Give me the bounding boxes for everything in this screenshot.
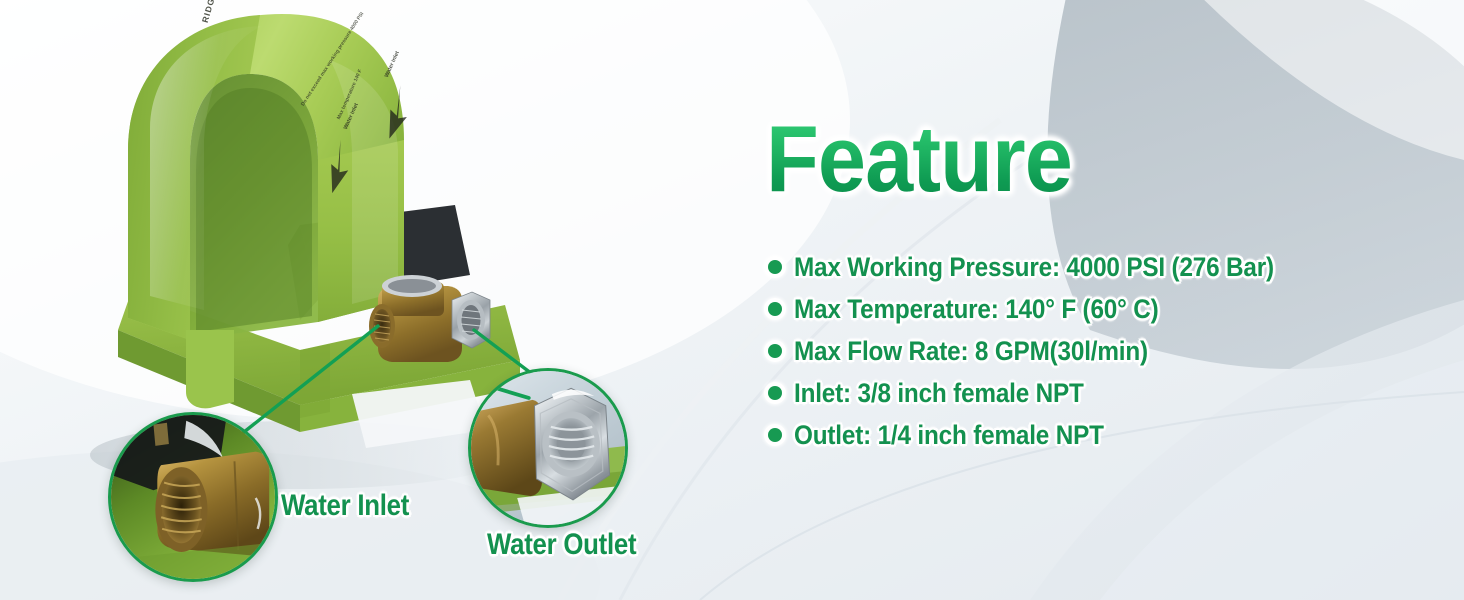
- callout-circle-water-outlet: [468, 368, 628, 528]
- callout-label-water-outlet: Water Outlet: [487, 528, 636, 562]
- bullet-icon: [768, 302, 782, 316]
- bullet-icon: [768, 260, 782, 274]
- feature-text: Max Temperature: 140° F (60° C): [794, 294, 1159, 325]
- feature-item: Inlet: 3/8 inch female NPT: [768, 372, 1464, 414]
- feature-item: Max Temperature: 140° F (60° C): [768, 288, 1464, 330]
- feature-list: Max Working Pressure: 4000 PSI (276 Bar)…: [768, 246, 1464, 456]
- feature-item: Max Flow Rate: 8 GPM(30l/min): [768, 330, 1464, 372]
- feature-panel: Feature Max Working Pressure: 4000 PSI (…: [762, 0, 1464, 600]
- water-inlet-closeup: [111, 415, 275, 579]
- callout-circle-water-inlet: [108, 412, 278, 582]
- feature-banner: RIDGE WASHER RW Do not exceed max workin…: [0, 0, 1464, 600]
- feature-item: Max Working Pressure: 4000 PSI (276 Bar): [768, 246, 1464, 288]
- feature-text: Max Working Pressure: 4000 PSI (276 Bar): [794, 252, 1274, 283]
- bullet-icon: [768, 344, 782, 358]
- bullet-icon: [768, 386, 782, 400]
- feature-title: Feature: [766, 112, 1072, 206]
- bullet-icon: [768, 428, 782, 442]
- feature-text: Outlet: 1/4 inch female NPT: [794, 420, 1104, 451]
- callout-label-water-inlet: Water Inlet: [281, 489, 409, 523]
- feature-text: Max Flow Rate: 8 GPM(30l/min): [794, 336, 1148, 367]
- feature-item: Outlet: 1/4 inch female NPT: [768, 414, 1464, 456]
- feature-text: Inlet: 3/8 inch female NPT: [794, 378, 1084, 409]
- water-outlet-closeup: [471, 371, 625, 525]
